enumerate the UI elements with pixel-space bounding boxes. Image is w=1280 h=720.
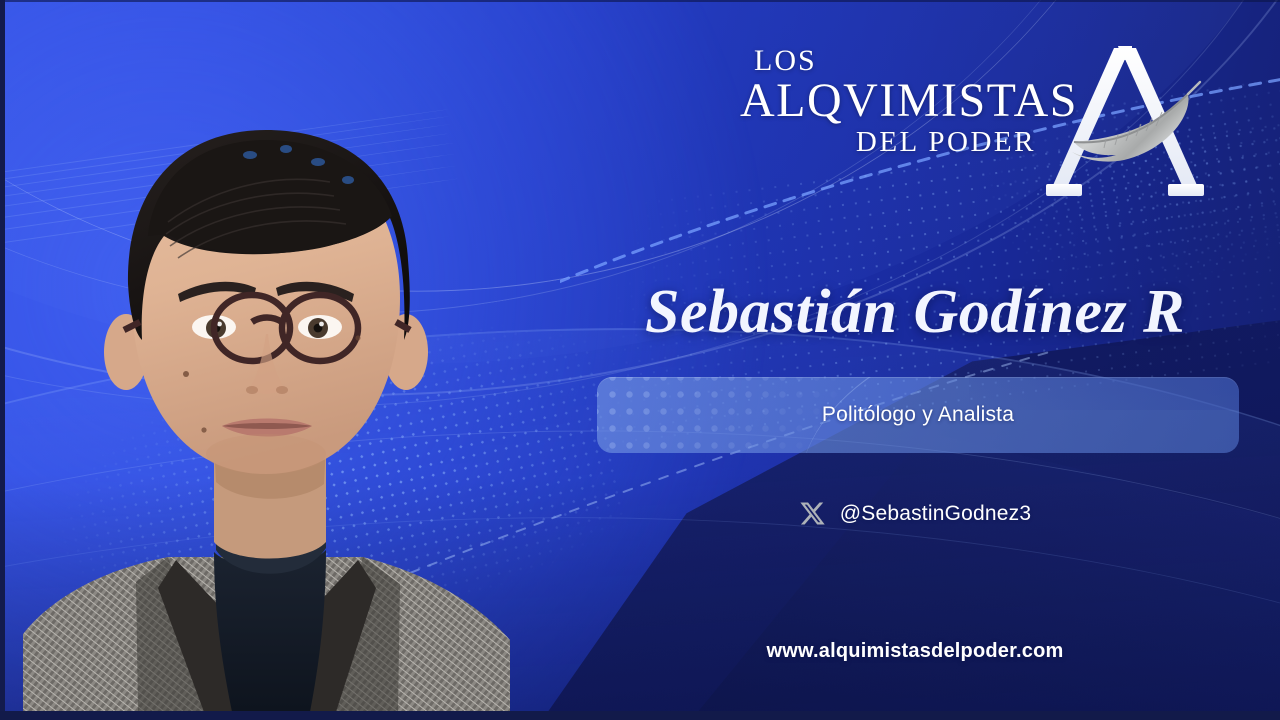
website-url[interactable]: www.alquimistasdelpoder.com	[575, 640, 1255, 663]
brand-logo-line-los: LOS	[740, 46, 1040, 76]
a-monogram-icon	[1040, 38, 1210, 210]
portrait-photo-container	[18, 22, 518, 712]
frame-edge-left	[0, 0, 5, 720]
brand-logo-wordmark: LOS ALQVIMISTAS DEL PODER	[740, 46, 1040, 159]
x-twitter-icon[interactable]	[799, 500, 826, 527]
frame-edge-top	[0, 0, 1280, 2]
social-handle-text[interactable]: @SebastinGodnez3	[840, 502, 1031, 526]
role-banner: Politólogo y Analista	[597, 377, 1239, 453]
frame-edge-bottom	[0, 711, 1280, 720]
portrait-photo	[18, 22, 518, 712]
social-handle-row[interactable]: @SebastinGodnez3	[575, 500, 1255, 527]
brand-logo: LOS ALQVIMISTAS DEL PODER	[740, 38, 1210, 213]
lower-third-graphic: LOS ALQVIMISTAS DEL PODER	[0, 0, 1280, 720]
person-role: Politólogo y Analista	[597, 377, 1239, 453]
person-name: Sebastián Godínez R	[575, 278, 1255, 346]
brand-logo-line-alqvimistas: ALQVIMISTAS	[740, 76, 1040, 127]
brand-logo-line-del-poder: DEL PODER	[740, 127, 1040, 159]
